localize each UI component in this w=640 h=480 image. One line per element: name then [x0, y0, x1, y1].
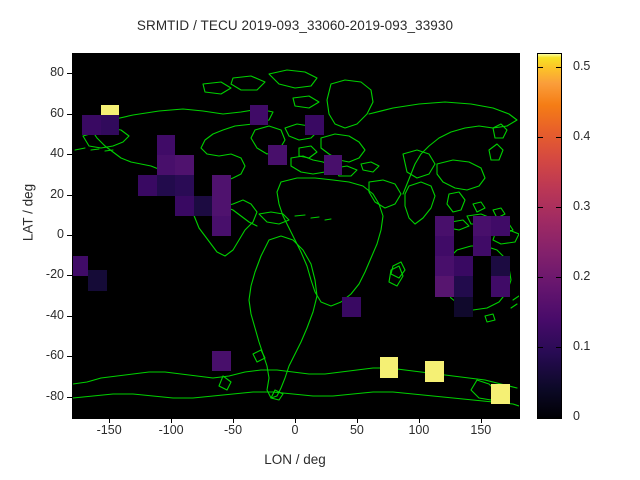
data-cell — [435, 216, 454, 236]
x-tick-label: 150 — [451, 423, 511, 437]
map-plot-area[interactable] — [72, 53, 520, 419]
data-cell — [157, 175, 176, 195]
data-cell — [435, 276, 454, 296]
colorbar-tick-label: 0.2 — [573, 269, 590, 283]
x-tick-label: -50 — [203, 423, 263, 437]
data-cell — [175, 196, 194, 216]
y-axis-label: LAT / deg — [21, 153, 36, 273]
colorbar-tick-label: 0.1 — [573, 339, 590, 353]
x-tick-label: 0 — [265, 423, 325, 437]
y-tick-label: -40 — [18, 308, 64, 322]
colorbar-tick-mark — [538, 137, 543, 138]
data-cell — [491, 256, 510, 276]
x-tick-label: 50 — [327, 423, 387, 437]
x-tick-label: -150 — [79, 423, 139, 437]
data-cell — [212, 175, 231, 195]
colorbar-tick-label: 0.3 — [573, 199, 590, 213]
colorbar-tick-mark — [538, 347, 543, 348]
data-cell — [88, 270, 107, 290]
data-cell — [82, 115, 101, 135]
data-cell — [435, 256, 454, 276]
data-cell — [342, 297, 361, 317]
data-cell — [175, 155, 194, 175]
colorbar-tick-mark — [556, 137, 561, 138]
data-cell — [175, 175, 194, 195]
page-title: SRMTID / TECU 2019-093_33060-2019-093_33… — [0, 18, 590, 33]
data-cell — [435, 236, 454, 256]
data-cell — [473, 236, 492, 256]
data-cell — [491, 216, 510, 236]
colorbar-tick-label: 0 — [573, 409, 580, 423]
colorbar-tick-mark — [556, 277, 561, 278]
colorbar-tick-mark — [556, 347, 561, 348]
colorbar-tick-mark — [538, 67, 543, 68]
colorbar-tick-mark — [556, 67, 561, 68]
y-tick-label: -60 — [18, 348, 64, 362]
colorbar-gradient[interactable] — [537, 53, 562, 419]
x-axis-label: LON / deg — [72, 452, 518, 467]
data-cell — [454, 297, 473, 317]
y-tick-mark — [67, 275, 72, 276]
y-tick-label: 60 — [18, 106, 64, 120]
data-cell-layer — [73, 54, 519, 418]
y-tick-mark — [67, 195, 72, 196]
y-tick-mark — [67, 235, 72, 236]
data-cell — [72, 256, 88, 276]
y-tick-mark — [67, 154, 72, 155]
colorbar-tick-mark — [538, 417, 543, 418]
data-cell — [268, 145, 287, 165]
y-tick-mark — [67, 114, 72, 115]
data-cell — [212, 196, 231, 216]
data-cell — [425, 361, 444, 381]
y-tick-mark — [67, 316, 72, 317]
x-tick-label: -100 — [141, 423, 201, 437]
data-cell — [305, 115, 324, 135]
data-cell — [380, 357, 399, 377]
data-cell — [194, 196, 213, 216]
colorbar-tick-label: 0.5 — [573, 59, 590, 73]
data-cell — [212, 351, 231, 371]
y-tick-mark — [67, 356, 72, 357]
y-tick-mark — [67, 73, 72, 74]
colorbar-tick-label: 0.4 — [573, 129, 590, 143]
y-tick-label: 80 — [18, 65, 64, 79]
data-cell — [473, 216, 492, 236]
data-cell — [454, 276, 473, 296]
data-cell — [324, 155, 343, 175]
data-cell — [454, 256, 473, 276]
data-cell — [491, 384, 510, 404]
colorbar-tick-mark — [556, 417, 561, 418]
data-cell — [138, 175, 157, 195]
data-cell — [157, 155, 176, 175]
colorbar-tick-mark — [538, 277, 543, 278]
y-tick-mark — [67, 397, 72, 398]
colorbar-tick-mark — [538, 207, 543, 208]
x-tick-label: 100 — [389, 423, 449, 437]
data-cell — [491, 276, 510, 296]
colorbar-tick-mark — [556, 207, 561, 208]
plot-page: SRMTID / TECU 2019-093_33060-2019-093_33… — [0, 0, 640, 480]
data-cell — [250, 105, 269, 125]
data-cell — [157, 135, 176, 155]
y-tick-label: -80 — [18, 389, 64, 403]
data-cell — [101, 115, 120, 135]
data-cell — [212, 216, 231, 236]
